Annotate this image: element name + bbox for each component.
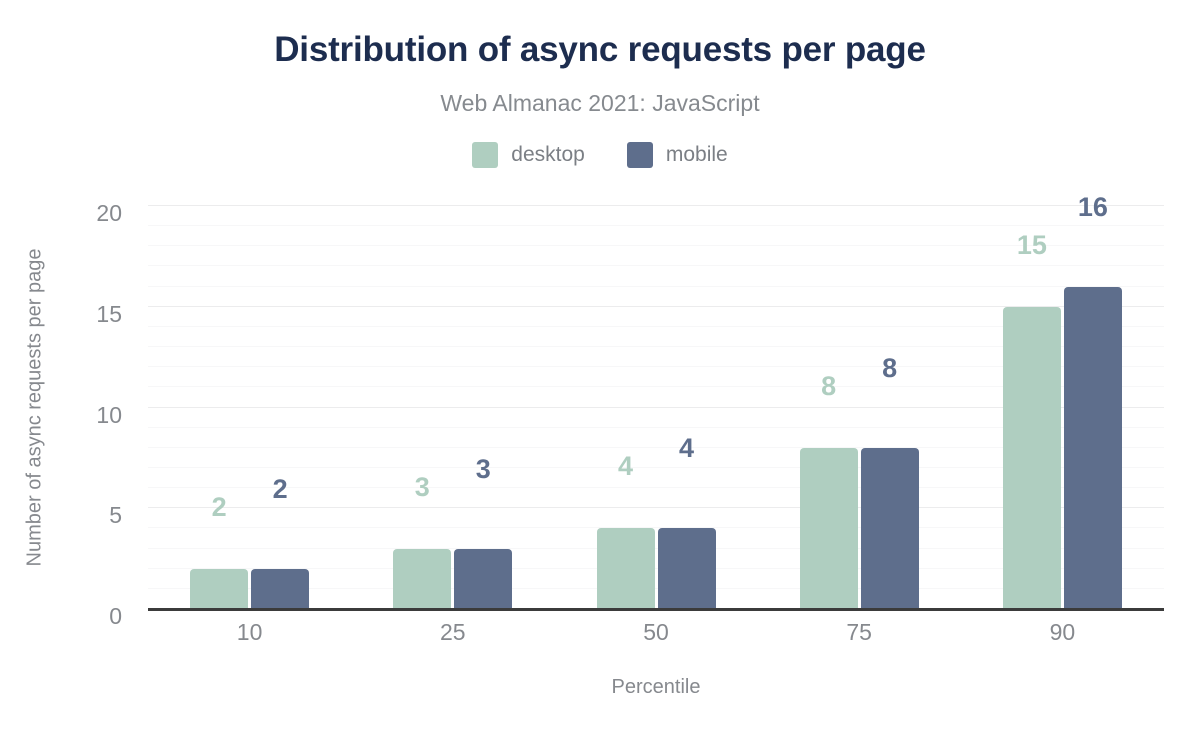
bar-desktop-90[interactable] [1003, 307, 1061, 609]
bar-value-mobile-10: 2 [251, 476, 309, 503]
x-axis-line [148, 608, 1164, 611]
x-tick-label: 90 [1050, 619, 1076, 646]
bar-value-desktop-50: 4 [597, 453, 655, 480]
bar-value-desktop-90: 15 [1003, 232, 1061, 259]
chart-title: Distribution of async requests per page [0, 30, 1200, 70]
y-axis-ticks: 05101520 [0, 206, 136, 609]
bar-value-desktop-75: 8 [800, 373, 858, 400]
bar-value-desktop-25: 3 [393, 474, 451, 501]
y-tick-label: 20 [96, 200, 122, 212]
x-axis-ticks: 1025507590 [148, 619, 1164, 651]
y-tick-label: 0 [109, 603, 122, 615]
bar-group-10: 22 [190, 206, 309, 609]
chart-legend: desktopmobile [0, 142, 1200, 168]
bar-value-desktop-10: 2 [190, 494, 248, 521]
bar-desktop-75[interactable] [800, 448, 858, 609]
x-tick-label: 75 [846, 619, 872, 646]
legend-item-mobile[interactable]: mobile [627, 142, 728, 168]
bar-value-mobile-50: 4 [658, 435, 716, 462]
bar-mobile-75[interactable] [861, 448, 919, 609]
bar-desktop-10[interactable] [190, 569, 248, 609]
x-tick-label: 50 [643, 619, 669, 646]
legend-item-desktop[interactable]: desktop [472, 142, 585, 168]
bar-group-50: 44 [597, 206, 716, 609]
bar-group-75: 88 [800, 206, 919, 609]
y-tick-label: 15 [96, 301, 122, 313]
x-tick-label: 25 [440, 619, 466, 646]
bar-mobile-50[interactable] [658, 528, 716, 609]
y-tick-label: 10 [96, 402, 122, 414]
bar-mobile-10[interactable] [251, 569, 309, 609]
bar-desktop-25[interactable] [393, 549, 451, 609]
bar-desktop-50[interactable] [597, 528, 655, 609]
bar-mobile-25[interactable] [454, 549, 512, 609]
bar-chart: Distribution of async requests per page … [0, 0, 1200, 742]
legend-label-mobile: mobile [666, 143, 728, 167]
legend-swatch-mobile [627, 142, 653, 168]
x-tick-label: 10 [237, 619, 263, 646]
legend-label-desktop: desktop [511, 143, 585, 167]
chart-subtitle: Web Almanac 2021: JavaScript [0, 90, 1200, 117]
bar-group-25: 33 [393, 206, 512, 609]
bar-value-mobile-90: 16 [1064, 194, 1122, 221]
bars-layer: 223344881516 [148, 206, 1164, 609]
y-tick-label: 5 [109, 502, 122, 514]
plot-area: 223344881516 [148, 206, 1164, 609]
x-axis-title: Percentile [148, 676, 1164, 699]
bar-value-mobile-25: 3 [454, 456, 512, 483]
bar-group-90: 1516 [1003, 206, 1122, 609]
legend-swatch-desktop [472, 142, 498, 168]
bar-value-mobile-75: 8 [861, 355, 919, 382]
bar-mobile-90[interactable] [1064, 287, 1122, 609]
